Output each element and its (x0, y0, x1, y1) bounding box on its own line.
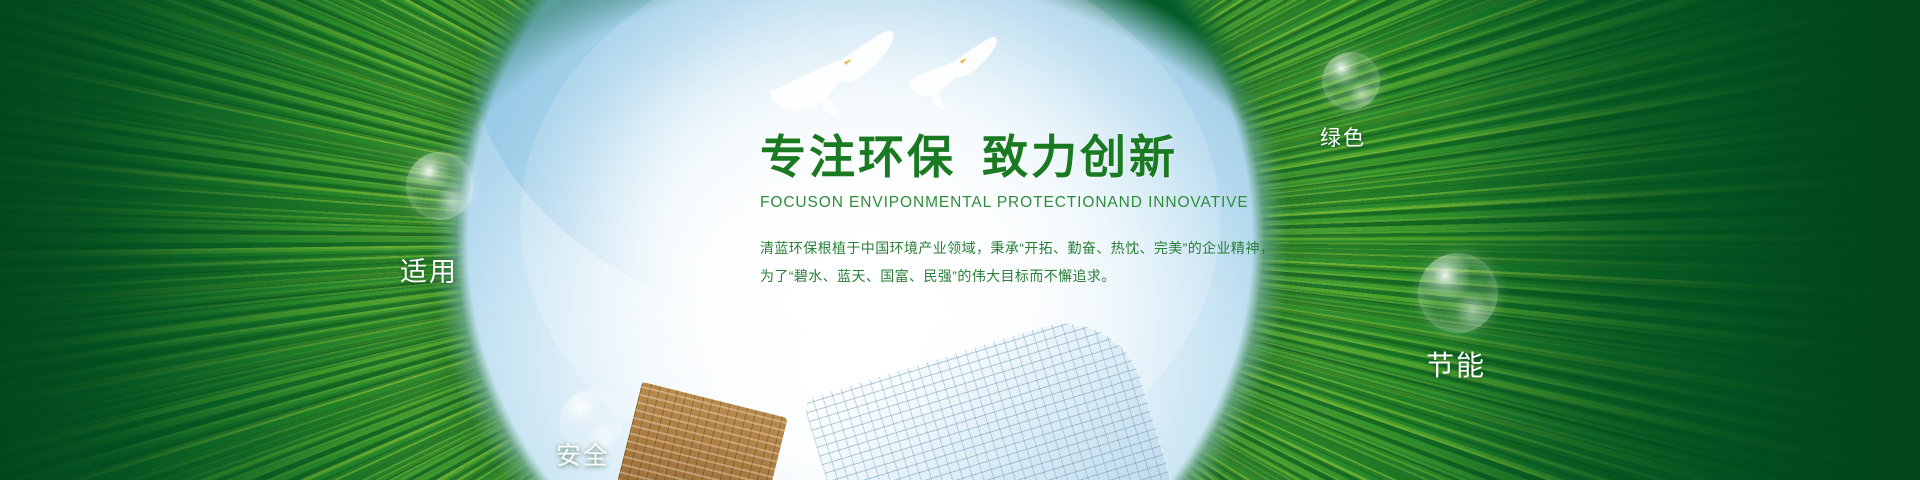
bubble-lvse-label: 绿色 (1320, 122, 1366, 152)
bubble-anquan-label: 安全 (556, 436, 610, 472)
headline-part-2: 致力创新 (982, 131, 1178, 183)
bubble-shiyong-label: 适用 (400, 250, 458, 289)
seagull-icon (760, 14, 1020, 124)
hero-banner: 适用 安全 绿色 节能 专注环保致力创新 FOCUSON ENVIPONMENT… (0, 0, 1920, 480)
description-paragraph: 清蓝环保根植于中国环境产业领域，秉承“开拓、勤奋、热忱、完美”的企业精神， 为了… (760, 234, 1320, 290)
headline-subtitle-english: FOCUSON ENVIPONMENTAL PROTECTIONAND INNO… (760, 194, 1320, 212)
description-line-1: 清蓝环保根植于中国环境产业领域，秉承“开拓、勤奋、热忱、完美”的企业精神， (760, 234, 1320, 262)
bubble-lvse (1322, 52, 1380, 110)
seagulls-group (760, 14, 1020, 124)
bubble-jieneng (1418, 253, 1498, 333)
description-line-2: 为了“碧水、蓝天、国富、民强”的伟大目标而不懈追求。 (760, 262, 1320, 290)
copy-block: 专注环保致力创新 FOCUSON ENVIPONMENTAL PROTECTIO… (760, 132, 1320, 290)
headline-part-1: 专注环保 (760, 131, 956, 183)
bubble-jieneng-label: 节能 (1426, 344, 1486, 384)
page-headline: 专注环保致力创新 (760, 132, 1320, 184)
bubble-shiyong (406, 152, 474, 220)
